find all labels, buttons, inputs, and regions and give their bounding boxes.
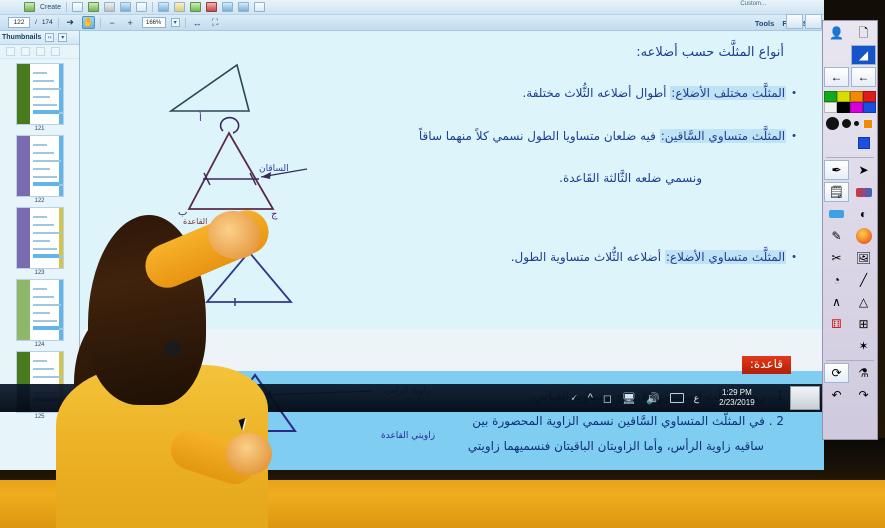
acrobat-menubar[interactable]: Create Custom... (0, 0, 824, 15)
zoom-in-icon[interactable] (21, 47, 30, 56)
bullet-text-equilateral: المثلَّث متساوي الأضلاع: أضلاعه الثُّلاث… (511, 249, 786, 266)
gallery-icon[interactable]: 🖼 (851, 248, 876, 268)
clock-date: 2/23/2019 (719, 398, 755, 407)
capture-icon[interactable]: ✂ (824, 248, 849, 268)
smartbar-row-nav[interactable]: ← ← (824, 67, 876, 87)
user-icon[interactable]: 👤 (824, 23, 849, 43)
fit-page-icon[interactable]: ⛶ (209, 16, 222, 29)
isosceles-right-vertex-label: ج (271, 209, 277, 220)
rule-item-2: 2 . في المثلَّث المتساوي السَّاقين نسمي … (472, 414, 784, 428)
thumbnail-side-band (17, 136, 30, 196)
attach-icon[interactable] (206, 2, 217, 12)
next-page-icon[interactable]: ← (851, 67, 876, 87)
smartbar-row-undo[interactable]: ↶ ↷ (824, 385, 876, 405)
presenter-right-hand (208, 211, 260, 259)
thumbnail-text-line (33, 152, 54, 154)
undo-icon[interactable]: ↶ (824, 385, 849, 405)
thumbnail-side-band (17, 280, 30, 340)
prev-page-icon[interactable]: ← (824, 67, 849, 87)
spray-icon[interactable]: ⚗ (851, 363, 876, 383)
presenter-left-hand (226, 433, 272, 475)
bullet-text-isosceles: المثلَّث متساوي السَّاقين: فيه ضلعان متس… (419, 128, 786, 145)
bullet-term-scalene: المثلَّث مختلف الأضلاع: (670, 86, 786, 100)
sign-panel-icon[interactable] (786, 14, 803, 29)
select-area-icon[interactable]: ◢ (851, 45, 876, 65)
blank-cell-2 (824, 133, 849, 153)
thumbnail-text-line (33, 168, 50, 170)
bullet-marker: • (792, 85, 796, 101)
thumbnail-accent-band (59, 64, 63, 124)
toolbar-divider-2 (100, 18, 101, 28)
thumbnail-image[interactable] (16, 63, 64, 125)
page-icon[interactable]: 🗋 (851, 23, 876, 43)
rule-banner: قاعدة: (742, 356, 791, 374)
smartbar-row-tools[interactable]: ⚅ ⊞ (824, 314, 876, 334)
thumbnail-page-122[interactable]: 122 (0, 135, 79, 204)
note-icon[interactable]: 🗒 (824, 182, 849, 202)
dice-icon[interactable]: ⚅ (824, 314, 849, 334)
bullet-item-scalene: • المثلَّث مختلف الأضلاع: أطوال أضلاعه ا… (522, 85, 796, 102)
thumbnail-text-line (33, 160, 61, 162)
color-swatch-3[interactable] (863, 91, 876, 102)
eraser-icon[interactable] (851, 182, 876, 202)
bullet-item-isosceles: • المثلَّث متساوي السَّاقين: فيه ضلعان م… (419, 128, 796, 145)
keyboard-icon[interactable] (670, 393, 684, 403)
protractor-icon[interactable]: ◔ (824, 270, 849, 290)
base-angles-label: زاويتي القاعدة (381, 431, 435, 441)
spotlight-icon[interactable]: ◐ (851, 204, 876, 224)
screenshot-root: NEC Create Custom... 122 / 174 (0, 0, 885, 528)
color-palette[interactable] (824, 91, 876, 113)
smartbar-row-pens[interactable]: ✒ ➤ (824, 160, 876, 180)
legs-label: الساقان (259, 164, 289, 174)
selected-color-swatch[interactable] (862, 118, 874, 130)
rule-item-3: ساقيه زاوية الرأس، وأما الزاويتان الباقي… (468, 439, 764, 453)
zoom-out-icon[interactable] (6, 47, 15, 56)
calculator-icon[interactable]: ⊞ (851, 314, 876, 334)
pointer-icon[interactable]: ➤ (851, 160, 876, 180)
highlighter-icon[interactable] (824, 204, 849, 224)
tools-link[interactable]: Tools (755, 19, 774, 28)
thumbnail-text-line (33, 96, 50, 98)
thumbnail-image[interactable] (16, 135, 64, 197)
create-icon[interactable] (24, 2, 35, 12)
thumbnails-header: Thumbnails ‹‹ ▾ (0, 31, 79, 45)
smartbar-divider-1 (826, 157, 874, 158)
new-page-icon[interactable] (72, 2, 83, 12)
bullet-marker-2: • (792, 128, 796, 144)
blank-cell (824, 45, 849, 65)
taskbar-clock[interactable]: 1:29 PM 2/23/2019 (719, 388, 755, 408)
volume-icon[interactable]: 🔊 (646, 392, 660, 405)
line-width-m[interactable] (854, 121, 859, 126)
page-total: 174 (42, 19, 53, 26)
thumbnail-text-line (33, 104, 57, 106)
highlight-icon[interactable] (174, 2, 185, 12)
toolbar-divider-1 (58, 18, 59, 28)
color-swatch-7[interactable] (863, 102, 876, 113)
smartbar-row-highlight[interactable]: ◐ (824, 204, 876, 224)
thumbnail-highlight (33, 110, 59, 114)
bullet-definition-equilateral: أضلاعه الثُّلاث متساوية الطول. (511, 250, 665, 264)
rotate-cw-icon[interactable] (51, 47, 60, 56)
stamp-icon[interactable] (190, 2, 201, 12)
smartbar-divider-2 (826, 360, 874, 361)
color-swatch-2[interactable] (850, 91, 863, 102)
pen-icon[interactable]: ✒ (824, 160, 849, 180)
thumbnail-text-line (33, 176, 57, 178)
dropper-icon[interactable]: ✎ (824, 226, 849, 246)
menubar-divider-2 (152, 2, 153, 12)
presenter-microphone (164, 341, 182, 357)
chevron-down-icon[interactable]: ▾ (171, 18, 180, 27)
customize-label[interactable]: Custom... (740, 1, 766, 7)
bullet-continuation-isosceles: ونسمي ضلعه الثَّالثة القَاعدة. (559, 171, 702, 185)
options-icon[interactable]: ▾ (58, 33, 67, 42)
comment-panel-icon[interactable] (805, 14, 822, 29)
language-indicator[interactable]: ع (694, 393, 699, 404)
page-number-input[interactable]: 122 (8, 17, 30, 28)
bullet-term-equilateral: المثلَّث متساوي الأضلاع: (665, 250, 786, 264)
bullet-term-isosceles: المثلَّث متساوي السَّاقين: (660, 129, 786, 143)
cursor-icon[interactable]: ➜ (64, 16, 77, 29)
line-width-xl[interactable] (826, 117, 839, 130)
isosceles-apex-label: أ (199, 113, 202, 124)
rotate-ccw-icon[interactable] (36, 47, 45, 56)
export-icon[interactable] (136, 2, 147, 12)
thumbnail-text-line (33, 80, 54, 82)
thumbnail-page-number: 121 (34, 126, 44, 132)
hand-icon[interactable]: ✋ (82, 16, 95, 29)
thumbnail-accent-band (59, 136, 63, 196)
menubar-divider (66, 2, 67, 12)
smartbar-row-account[interactable]: 👤 🗋 (824, 23, 876, 43)
bullet-item-equilateral: • المثلَّث متساوي الأضلاع: أضلاعه الثُّل… (511, 249, 796, 266)
fit-width-icon[interactable]: ↔ (191, 16, 204, 29)
thumbnail-text-line (33, 88, 61, 90)
comment-icon[interactable] (158, 2, 169, 12)
network-icon[interactable]: ◻ (603, 392, 612, 405)
toolbar-divider-3 (185, 18, 186, 28)
bullet-definition-scalene: أطوال أضلاعه الثُّلاث مختلفة. (522, 86, 670, 100)
zoom-in-button[interactable]: + (124, 16, 137, 29)
compass-icon[interactable]: ∧ (824, 292, 849, 312)
bullet-definition-isosceles: فيه ضلعان متساويا الطول نسمي كلاً منهما … (419, 129, 660, 143)
thumbnails-toolbar[interactable] (0, 45, 79, 59)
smartbar-row-magic[interactable]: ✶ (824, 336, 876, 356)
smartbar-row-gallery[interactable]: ✂ 🖼 (824, 248, 876, 268)
redo-icon[interactable]: ↷ (851, 385, 876, 405)
smartbar-row-dropper[interactable]: ✎ (824, 226, 876, 246)
zoom-level-input[interactable]: 166% (142, 17, 166, 28)
display-icon[interactable]: 🖥 (622, 392, 636, 405)
email-icon[interactable] (120, 2, 131, 12)
form-icon[interactable] (238, 2, 249, 12)
thumbnail-page-121[interactable]: 121 (0, 63, 79, 132)
save-icon[interactable] (88, 2, 99, 12)
thumbnails-title: Thumbnails (2, 34, 41, 41)
smartbar-row-note[interactable]: 🗒 (824, 182, 876, 202)
start-icon[interactable]: 🗸 (570, 392, 578, 405)
create-button[interactable]: Create (40, 4, 61, 11)
color-swatch-4[interactable] (824, 102, 837, 113)
smartbar-row-refresh[interactable]: ⟳ ⚗ (824, 363, 876, 383)
bullet-text-scalene: المثلَّث مختلف الأضلاع: أطوال أضلاعه الث… (522, 85, 786, 102)
active-color-swatch[interactable] (851, 133, 876, 153)
smartbar-row-geometry[interactable]: ∧ △ (824, 292, 876, 312)
set-square-icon[interactable]: △ (851, 292, 876, 312)
collapse-icon[interactable]: ‹‹ (45, 33, 54, 42)
shade-icon[interactable] (851, 226, 876, 246)
color-swatch-0[interactable] (824, 91, 837, 102)
zoom-out-button[interactable]: − (106, 16, 119, 29)
blank-cell-3 (824, 336, 849, 356)
line-width-selector[interactable] (826, 117, 874, 130)
color-swatch-6[interactable] (850, 102, 863, 113)
thumbnail-text-line (33, 72, 47, 74)
sign-icon[interactable] (222, 2, 233, 12)
acrobat-toolbar[interactable]: 122 / 174 ➜ ✋ − + 166% ▾ ↔ ⛶ (0, 15, 824, 31)
slide-heading: أنواع المثلَّث حسب أضلاعه: (636, 45, 784, 60)
presenter (30, 215, 270, 528)
thumbnail-text-line (33, 144, 47, 146)
acrobat-right-icons[interactable] (786, 14, 822, 29)
scalene-triangle (169, 55, 279, 115)
thumbnail-side-band (17, 64, 30, 124)
clock-time: 1:29 PM (722, 388, 752, 397)
thumbnail-highlight (33, 182, 59, 186)
show-hidden-icon[interactable]: ^ (588, 392, 593, 404)
color-swatch-1[interactable] (837, 91, 850, 102)
page-separator: / (35, 19, 37, 26)
smartboard-toolbar[interactable]: 👤 🗋 ◢ ← ← ✒ ➤ 🗒 (822, 20, 878, 440)
more-icon[interactable] (254, 2, 265, 12)
bullet-marker-3: • (792, 249, 796, 265)
line-width-l[interactable] (842, 119, 851, 128)
refresh-icon[interactable]: ⟳ (824, 363, 849, 383)
smartbar-row-select[interactable]: ◢ (824, 45, 876, 65)
smartbar-row-measure[interactable]: ◔ ╱ (824, 270, 876, 290)
ruler-icon[interactable]: ╱ (851, 270, 876, 290)
magic-pen-icon[interactable]: ✶ (851, 336, 876, 356)
color-swatch-5[interactable] (837, 102, 850, 113)
smartbar-row-activecolor[interactable] (824, 133, 876, 153)
thumbnail-side-band (17, 208, 30, 268)
print-icon[interactable] (104, 2, 115, 12)
thumbnail-page-number: 122 (34, 198, 44, 204)
tablet-icon[interactable] (790, 386, 820, 410)
